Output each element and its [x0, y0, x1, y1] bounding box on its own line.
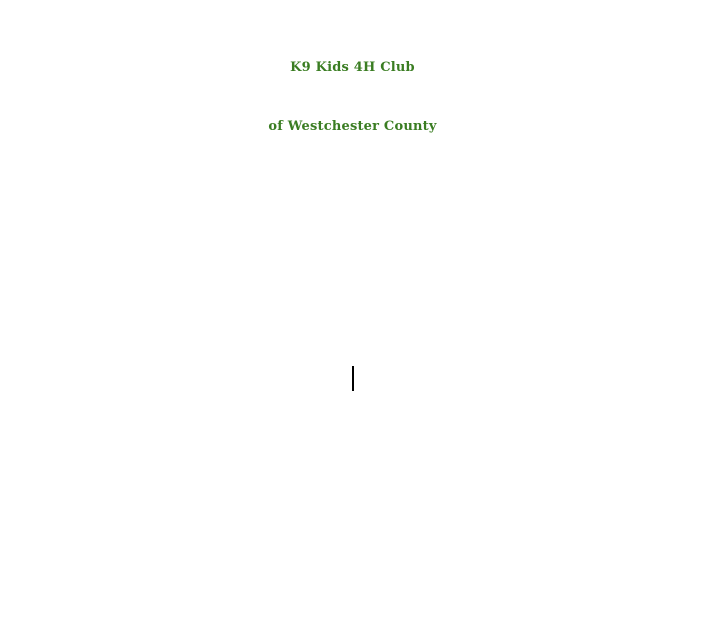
contact-phone: (914) 393-0445 — [0, 541, 705, 586]
contact-name: Please contact Patti Murphy — [0, 496, 705, 541]
document-body[interactable]: Club is open to children ages 5 to 19 No… — [0, 232, 705, 452]
contact-info: Please contact Patti Murphy (914) 393-04… — [0, 496, 705, 631]
body-line-meetings: Meetings every Monday — [0, 320, 705, 364]
contact-email: Email: pmurphycpa@aol.com — [0, 586, 705, 631]
body-line-learn-wrapper: Learn how to train, show and care for a … — [0, 364, 705, 408]
title-line-1: K9 Kids 4H Club — [0, 38, 705, 97]
body-line-no-charge: No Charge — [0, 276, 705, 320]
document-title: K9 Kids 4H Club of Westchester County — [0, 38, 705, 156]
body-line-work-with-dog: Work with your dog that belongs to a mem… — [0, 408, 705, 452]
title-line-2: of Westchester County — [0, 97, 705, 156]
body-line-age-range: Club is open to children ages 5 to 19 — [0, 232, 705, 276]
text-cursor-caret — [352, 366, 354, 391]
document-page[interactable]: K9 Kids 4H Club of Westchester County Cl… — [0, 0, 705, 631]
